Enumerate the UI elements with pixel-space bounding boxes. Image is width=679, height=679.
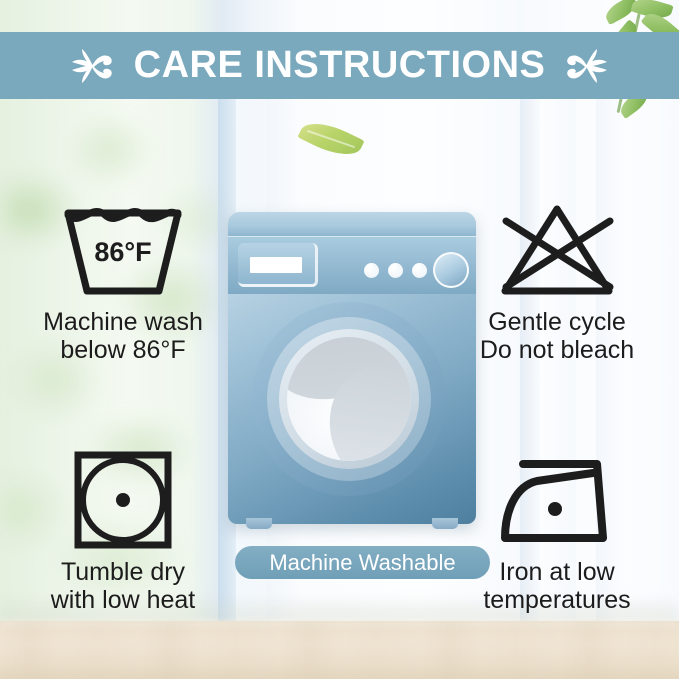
care-symbol-machine-wash: 86°F Machine wash below 86°F	[18, 196, 228, 364]
machine-washable-badge: Machine Washable	[235, 546, 490, 579]
washer-control-panel	[228, 237, 476, 294]
washer-door-inner-ring	[279, 329, 419, 469]
washer-door-mid-ring	[267, 317, 431, 481]
washer-door-glass	[287, 337, 411, 461]
triangle-crossed-out-icon	[492, 199, 622, 301]
detergent-drawer	[238, 243, 318, 287]
detergent-drawer-handle	[250, 257, 302, 273]
wood-counter	[0, 621, 679, 679]
care-symbol-do-not-bleach: Gentle cycle Do not bleach	[452, 196, 662, 364]
washer-door-outer-ring	[252, 302, 446, 496]
program-dial-knob	[433, 252, 469, 288]
washer-foot	[432, 518, 458, 529]
header-banner: CARE INSTRUCTIONS	[0, 32, 679, 99]
control-button	[412, 263, 427, 278]
iron-icon-wrap	[452, 446, 662, 554]
care-symbol-iron: Iron at low temperatures	[452, 446, 662, 614]
washer-top-lid	[228, 212, 476, 237]
wash-temperature-value: 86°F	[94, 237, 151, 267]
wood-grain	[0, 621, 679, 679]
care-label-tumble-dry: Tumble dry with low heat	[18, 558, 228, 614]
page-title: CARE INSTRUCTIONS	[134, 44, 546, 87]
control-button	[364, 263, 379, 278]
washing-machine-illustration	[228, 212, 476, 524]
care-label-machine-wash: Machine wash below 86°F	[18, 308, 228, 364]
fleur-de-lis-icon	[559, 44, 613, 88]
wash-tub-icon-wrap: 86°F	[18, 196, 228, 304]
washer-foot	[246, 518, 272, 529]
tumble-dry-icon-wrap	[18, 446, 228, 554]
iron-icon	[493, 452, 621, 548]
bleach-icon-wrap	[452, 196, 662, 304]
fleur-de-lis-icon	[66, 44, 120, 88]
control-button	[388, 263, 403, 278]
care-label-do-not-bleach: Gentle cycle Do not bleach	[452, 308, 662, 364]
care-instructions-graphic: CARE INSTRUCTIONS 86°F Machine wash belo…	[0, 0, 679, 679]
tumble-dry-square-icon	[71, 448, 175, 552]
wash-tub-icon: 86°F	[58, 199, 188, 301]
care-symbol-tumble-dry: Tumble dry with low heat	[18, 446, 228, 614]
machine-washable-badge-label: Machine Washable	[269, 550, 455, 576]
